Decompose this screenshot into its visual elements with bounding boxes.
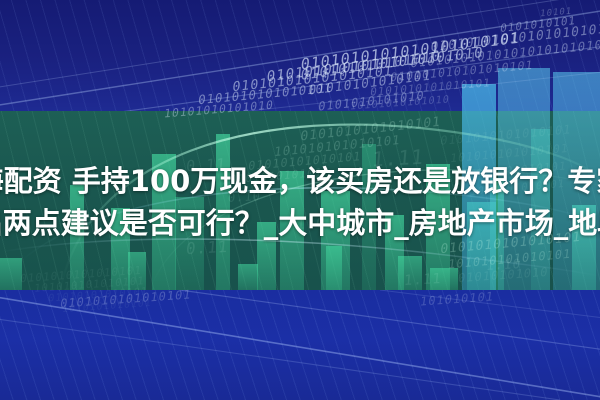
background-band-bottom (0, 290, 600, 400)
background-band-middle (0, 111, 600, 290)
background-band-top (0, 0, 600, 111)
stock-news-banner: 0101010101010101010101010101010101010101… (0, 0, 600, 400)
